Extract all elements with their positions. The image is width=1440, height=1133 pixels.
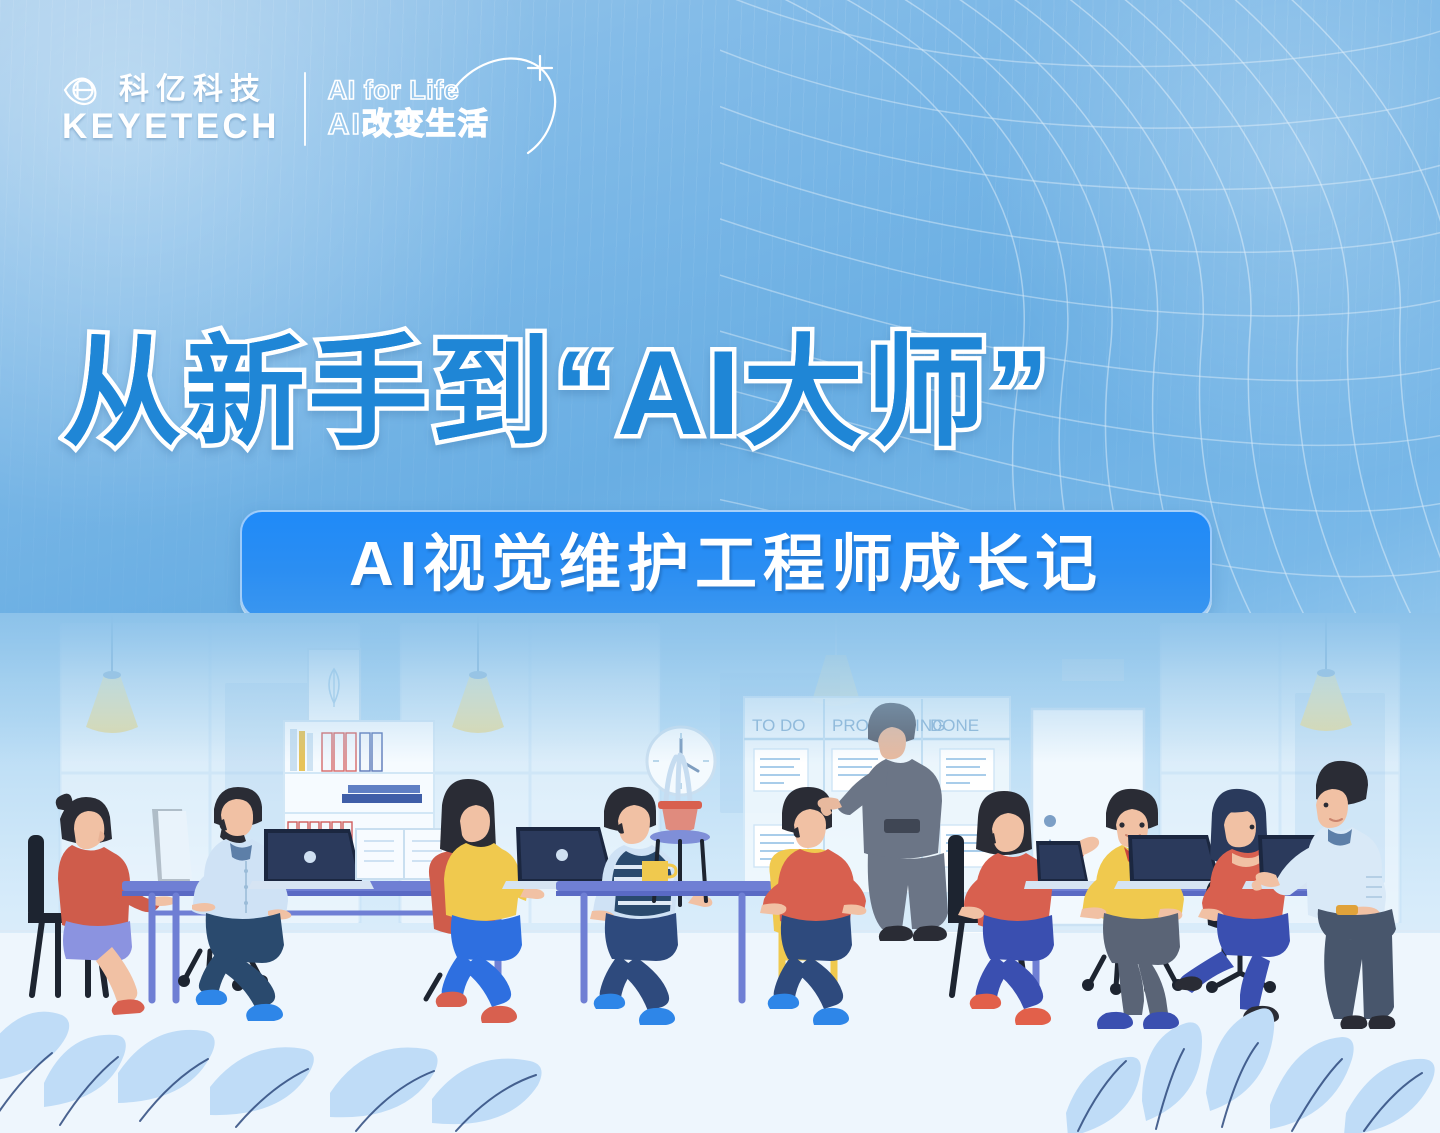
poster-root: 科亿科技 KEYETECH AI for Life AI改变生活 从新手到“AI…: [0, 0, 1440, 1133]
subtitle-banner: AI视觉维护工程师成长记: [240, 510, 1212, 619]
office-illustration: TO DO PROCESSING DONE: [0, 613, 1440, 1133]
subtitle-banner-wrap: AI视觉维护工程师成长记: [240, 510, 1212, 619]
framed-picture: [308, 649, 360, 721]
kanban-col-done: DONE: [930, 716, 979, 735]
brand-name-block: 科亿科技 KEYETECH: [62, 73, 280, 146]
brand-divider: [304, 72, 306, 146]
brand-name-cn: 科亿科技: [119, 75, 267, 105]
swoosh-arc-icon: [448, 50, 568, 162]
brand-tagline-block: AI for Life AI改变生活: [328, 76, 560, 142]
brand-logo: 科亿科技 KEYETECH AI for Life AI改变生活: [62, 72, 560, 146]
brand-row-cn: 科亿科技: [62, 73, 280, 107]
eye-logo-icon: [62, 73, 108, 107]
kanban-col-todo: TO DO: [752, 716, 806, 735]
subtitle-text: AI视觉维护工程师成长记: [349, 534, 1103, 596]
page-title: 从新手到“AI大师”: [62, 333, 1382, 453]
office-scene-svg: TO DO PROCESSING DONE: [0, 613, 1440, 1133]
monitor: [152, 809, 192, 881]
brand-name-en: KEYETECH: [62, 109, 280, 146]
